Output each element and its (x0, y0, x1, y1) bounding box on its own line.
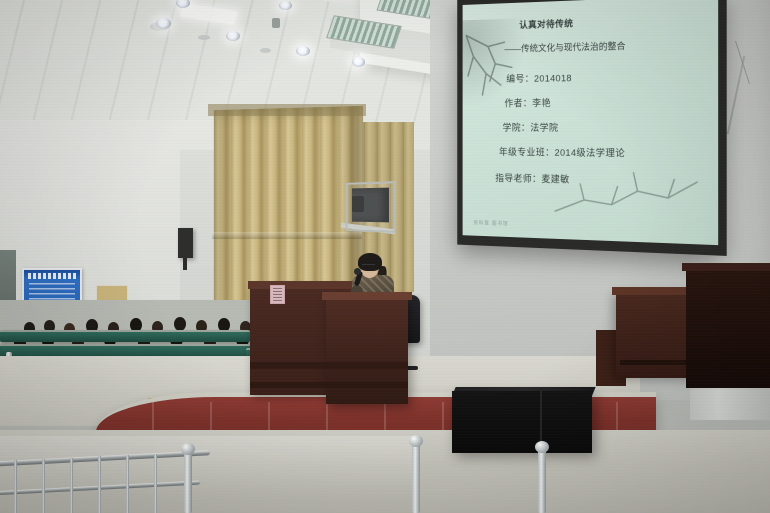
railing-spindle (154, 454, 157, 513)
podium-moulding (250, 382, 408, 388)
railing-post-cap (409, 435, 423, 447)
railing-spindle (70, 458, 73, 513)
railing-post (184, 452, 192, 513)
slide-corner-stamp: 资料室 图书馆 (473, 219, 508, 227)
lecture-hall-photo: 认真对待传统 ——传统文化与现代法治的整合 编号：2014018 作者：李艳 学… (0, 0, 770, 513)
curtain-rail (208, 104, 366, 116)
railing-spindle (98, 456, 101, 513)
wall-speaker (178, 228, 193, 258)
railing-spindle (126, 455, 129, 513)
projection-screen-surface: 认真对待传统 ——传统文化与现代法治的整合 编号：2014018 作者：李艳 学… (463, 0, 719, 245)
podium-moulding (250, 362, 408, 369)
projection-screen: 认真对待传统 ——传统文化与现代法治的整合 编号：2014018 作者：李艳 学… (457, 0, 726, 256)
podium-label-text (273, 288, 282, 301)
projector-cage (346, 181, 396, 233)
spotlight (296, 46, 310, 56)
slide-subtitle: ——传统文化与现代法治的整合 (504, 39, 625, 55)
slide-branch-artwork-bottom (551, 150, 701, 234)
slide-field-college: 学院：法学院 (503, 120, 559, 134)
curtain-tieband (212, 232, 362, 239)
microphone-head (354, 268, 361, 275)
railing-spindle (42, 459, 45, 513)
spotlight-housing (198, 35, 210, 40)
railing-post-cap (535, 441, 549, 453)
notice-board-header (28, 273, 76, 279)
podium-front-top-edge (322, 292, 412, 300)
spotlight-housing (260, 48, 271, 53)
slide-field-advisor: 指导老师：麦建敏 (495, 171, 569, 186)
presenter-hair (358, 253, 382, 271)
podium-label (270, 285, 285, 304)
slide-field-class: 年级专业班：2014级法学理论 (499, 144, 625, 159)
ceiling-mount-bracket (272, 18, 280, 28)
spotlight (226, 31, 240, 41)
spotlight (279, 1, 292, 10)
spotlight (352, 57, 365, 67)
slide-field-author: 作者：李艳 (504, 95, 550, 109)
railing-post-cap (181, 443, 195, 455)
slide-field-id: 编号：2014018 (506, 70, 572, 85)
presentation-slide: 认真对待传统 ——传统文化与现代法治的整合 编号：2014018 作者：李艳 学… (463, 0, 719, 245)
railing-post (538, 450, 546, 513)
stage-speaker-box (452, 391, 592, 453)
spotlight (156, 18, 171, 29)
wall-speaker-mount (183, 258, 187, 270)
wooden-cabinet-right (686, 268, 770, 388)
railing-spindle (14, 460, 17, 513)
slide-title: 认真对待传统 (519, 16, 573, 31)
presenter-glasses (362, 264, 375, 268)
cabinet-top-edge (682, 263, 770, 271)
seat-row (0, 330, 250, 342)
railing-post (412, 444, 420, 513)
